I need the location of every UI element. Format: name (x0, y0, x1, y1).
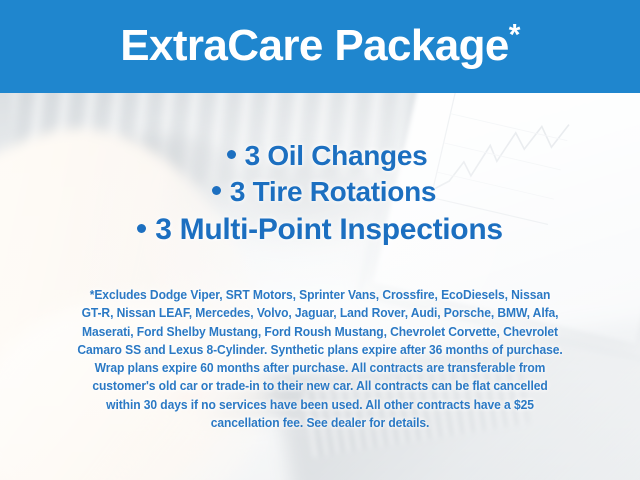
list-item-label: 3 Oil Changes (245, 140, 428, 171)
page-title: ExtraCare Package* (120, 24, 520, 68)
disclaimer-line: Camaro SS and Lexus 8-Cylinder. Syntheti… (30, 341, 610, 359)
disclaimer-line: cancellation fee. See dealer for details… (30, 414, 610, 432)
disclaimer-line: Wrap plans expire 60 months after purcha… (30, 359, 610, 377)
title-asterisk: * (509, 18, 520, 51)
disclaimer-line: *Excludes Dodge Viper, SRT Motors, Sprin… (30, 286, 610, 304)
list-item-label: 3 Tire Rotations (230, 176, 436, 207)
disclaimer-line: customer's old car or trade-in to their … (30, 377, 610, 395)
bullet-dot-icon (227, 150, 236, 159)
bullet-dot-icon (212, 186, 221, 195)
header-banner: ExtraCare Package* (0, 0, 640, 93)
disclaimer-text: *Excludes Dodge Viper, SRT Motors, Sprin… (30, 286, 610, 432)
disclaimer-line: Maserati, Ford Shelby Mustang, Ford Rous… (30, 323, 610, 341)
page-title-text: ExtraCare Package (120, 21, 509, 70)
list-item: 3 Tire Rotations (0, 174, 640, 210)
disclaimer-line: GT-R, Nissan LEAF, Mercedes, Volvo, Jagu… (30, 304, 610, 322)
list-item: 3 Oil Changes (0, 138, 640, 174)
list-item: 3 Multi-Point Inspections (0, 210, 640, 250)
disclaimer-line: within 30 days if no services have been … (30, 396, 610, 414)
benefits-list: 3 Oil Changes 3 Tire Rotations 3 Multi-P… (0, 138, 640, 250)
extracare-package-ad: ExtraCare Package* 3 Oil Changes 3 Tire … (0, 0, 640, 480)
list-item-label: 3 Multi-Point Inspections (155, 213, 503, 246)
bullet-dot-icon (137, 224, 146, 233)
